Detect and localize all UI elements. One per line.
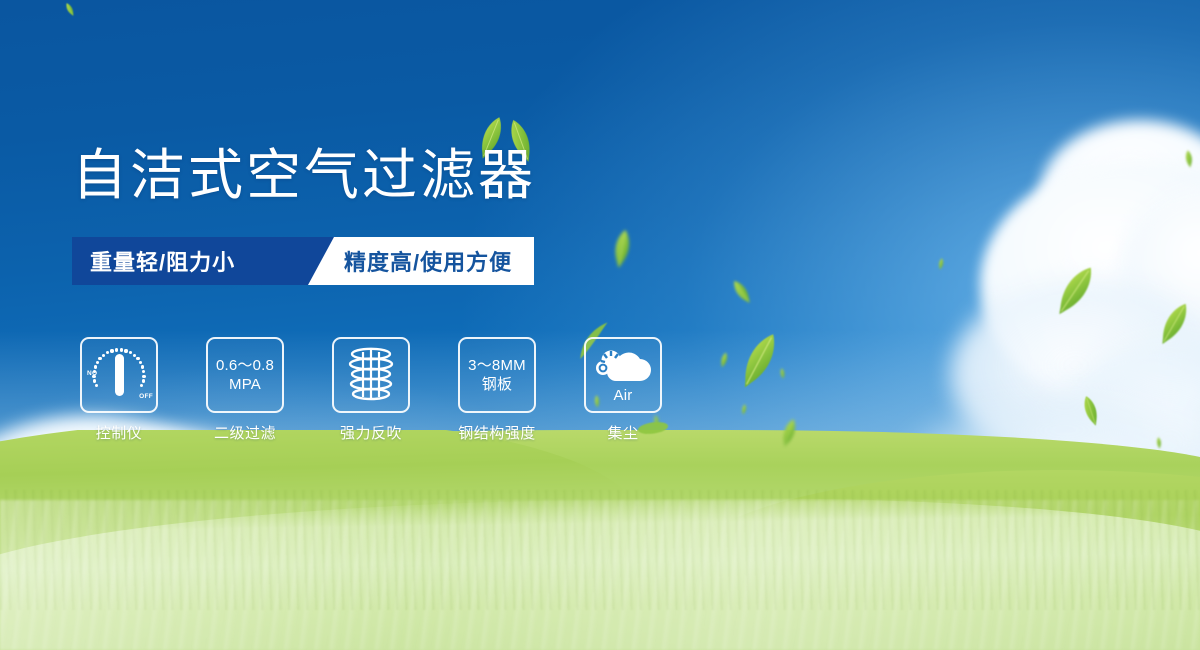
feature-item-strong-backflush[interactable]: 强力反吹 [332,337,410,443]
subtitle-left-text: 重量轻/阻力小 [90,245,235,277]
feature-caption: 集尘 [607,422,638,443]
pressure-value-line1: 0.6〜0.8 [216,356,274,375]
feature-icon-box [332,337,410,413]
dial-tick-dot [142,370,145,373]
subtitle-right-panel: 精度高/使用方便 [308,237,534,285]
cloud-air-icon [594,347,652,385]
product-hero-banner: 自洁式空气过滤器 重量轻/阻力小 精度高/使用方便 NO OFF 控制仪 0.6 [0,0,1200,650]
leaf-icon [1147,436,1170,450]
grass-sheen [0,500,1200,650]
dial-tick-dot [142,379,145,382]
air-label: Air [614,386,633,405]
dial-tick-dot [92,375,95,378]
dial-off-label: OFF [139,393,153,400]
feature-caption: 强力反吹 [340,422,402,443]
feature-item-steel-strength[interactable]: 3〜8MM 钢板 钢结构强度 [458,337,536,443]
feature-icon-box: Air [584,337,662,413]
dial-tick-dot [136,357,139,360]
dial-tick-dot [98,357,101,360]
stacked-filter-icon [344,346,398,404]
subtitle-left-panel: 重量轻/阻力小 [72,237,334,285]
dial-tick-dot [115,348,118,351]
feature-icon-box: NO OFF [80,337,158,413]
feature-caption: 钢结构强度 [458,422,536,443]
feature-item-dust-collection[interactable]: Air 集尘 [584,337,662,443]
steel-thickness-line1: 3〜8MM [468,356,526,375]
feature-item-two-stage-filter[interactable]: 0.6〜0.8 MPA 二级过滤 [206,337,284,443]
dial-needle [115,354,124,396]
dial-tick-dot [124,349,127,352]
dial-tick-dot [120,348,123,351]
pressure-value-line2: MPA [229,375,261,394]
subtitle-bar: 重量轻/阻力小 精度高/使用方便 [72,237,464,285]
dial-tick-dot [140,384,143,387]
dial-tick-dot [110,349,113,352]
dial-tick-dot [142,375,145,378]
steel-thickness-line2: 钢板 [482,375,512,394]
dial-tick-dot [94,365,97,368]
dial-tick-dot [139,361,142,364]
grass-field [0,430,1200,650]
dial-tick-dot [102,354,105,357]
feature-icon-box: 0.6〜0.8 MPA [206,337,284,413]
dial-gauge-icon: NO OFF [90,346,148,404]
dial-tick-dot [96,361,99,364]
feature-icon-box: 3〜8MM 钢板 [458,337,536,413]
feature-item-controller[interactable]: NO OFF 控制仪 [80,337,158,443]
dial-tick-dot [129,351,132,354]
dial-tick-dot [93,379,96,382]
dial-tick-dot [95,384,98,387]
dial-tick-dot [106,351,109,354]
feature-caption: 控制仪 [96,422,143,443]
page-title: 自洁式空气过滤器 [72,143,536,207]
dial-tick-dot [141,365,144,368]
leaf-icon [1174,148,1200,170]
feature-caption: 二级过滤 [214,422,276,443]
subtitle-right-text: 精度高/使用方便 [344,245,512,277]
